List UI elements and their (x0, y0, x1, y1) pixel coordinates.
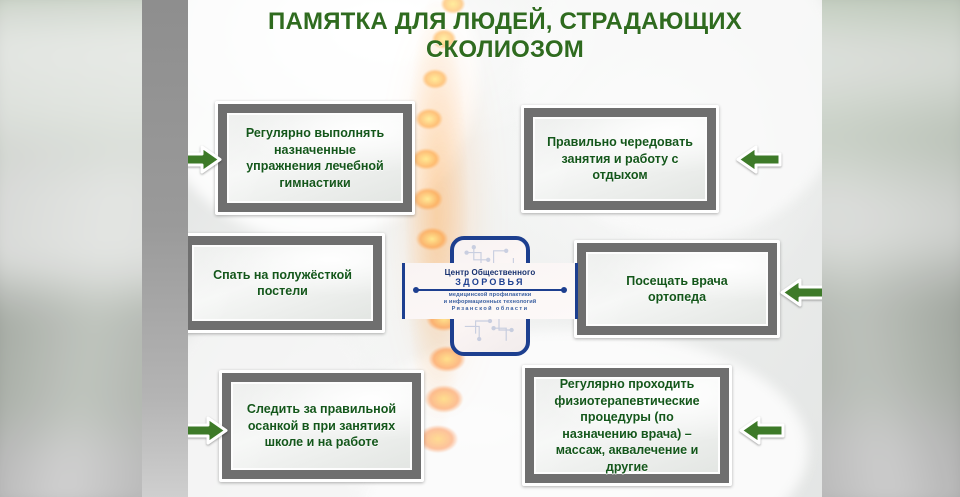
logo-line-4: и информационных технологий (444, 299, 537, 306)
tip-box-physiotherapy: Регулярно проходить физиотерапевтические… (522, 365, 732, 486)
arrow-left-icon (736, 144, 782, 175)
logo-divider (415, 289, 565, 291)
tip-box-posture: Следить за правильной осанкой в при заня… (219, 370, 424, 482)
tip-box-firm-bed: Спать на полужёсткой постели (188, 233, 385, 333)
logo-line-3: медицинской профилактики (449, 292, 532, 299)
tip-text: Регулярно проходить физиотерапевтические… (544, 376, 710, 475)
tip-box-visit-orthopedist: Посещать врача ортопеда (574, 240, 780, 338)
arrow-right-icon (188, 144, 222, 175)
left-gutter-band (142, 0, 188, 497)
page-title: ПАМЯТКА ДЛЯ ЛЮДЕЙ, СТРАДАЮЩИХ СКОЛИОЗОМ (188, 8, 822, 63)
arrow-left-icon (739, 415, 785, 446)
tip-text: Спать на полужёсткой постели (202, 267, 363, 300)
tip-text: Регулярно выполнять назначенные упражнен… (237, 125, 393, 191)
arrow-left-icon (780, 277, 822, 308)
logo-line-2: ЗДОРОВЬЯ (455, 277, 524, 287)
logo-line-1: Центр Общественного (445, 269, 536, 277)
tip-text: Следить за правильной осанкой в при заня… (241, 401, 402, 451)
organization-logo: Центр Общественного ЗДОРОВЬЯ медицинской… (450, 236, 530, 356)
infographic-slide: ПАМЯТКА ДЛЯ ЛЮДЕЙ, СТРАДАЮЩИХ СКОЛИОЗОМ … (0, 0, 960, 497)
tip-text: Посещать врача ортопеда (596, 273, 758, 306)
logo-line-5: Рязанской области (452, 306, 529, 313)
slide-canvas: ПАМЯТКА ДЛЯ ЛЮДЕЙ, СТРАДАЮЩИХ СКОЛИОЗОМ … (188, 0, 822, 497)
tip-box-exercise: Регулярно выполнять назначенные упражнен… (215, 101, 415, 215)
tip-box-rest-alternation: Правильно чередовать занятия и работу с … (521, 105, 719, 213)
logo-text-plate: Центр Общественного ЗДОРОВЬЯ медицинской… (402, 263, 578, 319)
tip-text: Правильно чередовать занятия и работу с … (543, 134, 697, 184)
arrow-right-icon (188, 415, 228, 446)
